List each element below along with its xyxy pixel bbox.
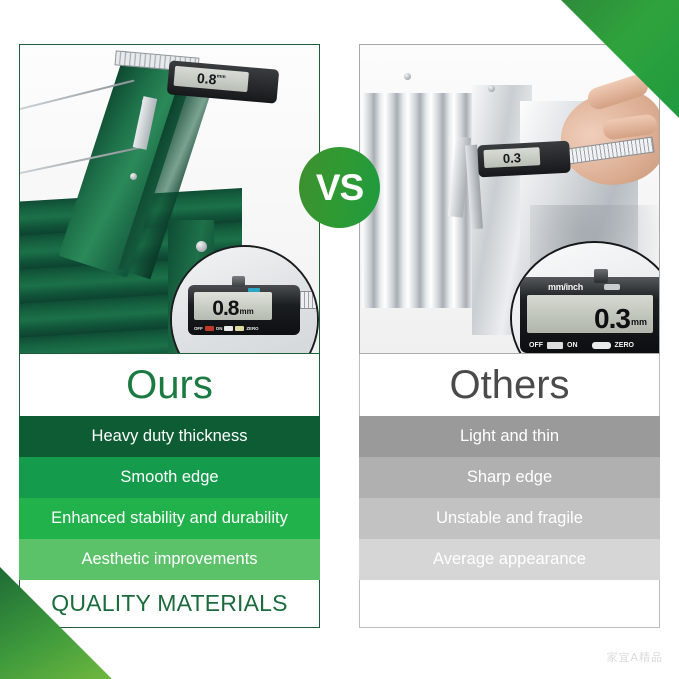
caliper-top-switch-others	[604, 284, 620, 290]
feature-row-others-1: Light and thin	[359, 416, 660, 457]
caliper-on-label-ours: ON	[216, 326, 223, 331]
caliper-display-small-others: 0.3	[483, 147, 540, 168]
magnified-caliper-value-ours: 0.8	[212, 298, 238, 319]
feature-row-others-2: Sharp edge	[359, 457, 660, 498]
magnified-display-ours: 0.8 mm	[194, 292, 272, 320]
watermark: 家宜A精品	[606, 649, 663, 665]
caliper-value-small-ours: 0.8	[196, 70, 217, 88]
feature-row-ours-1: Heavy duty thickness	[19, 416, 320, 457]
silver-screw-upper	[488, 85, 495, 92]
feature-label-ours-4: Aesthetic improvements	[81, 550, 257, 569]
comparison-board: 0.8 mm 0.8 mm OFF	[0, 0, 679, 679]
heading-others: Others	[449, 365, 569, 405]
feature-label-others-4: Average appearance	[433, 550, 586, 569]
feature-list-others: Light and thin Sharp edge Unstable and f…	[359, 416, 660, 580]
feature-row-ours-4: Aesthetic improvements	[19, 539, 320, 580]
feature-row-ours-2: Smooth edge	[19, 457, 320, 498]
caliper-unit-small-ours: mm	[216, 69, 226, 80]
feature-list-ours: Heavy duty thickness Smooth edge Enhance…	[19, 416, 320, 580]
magnified-display-others: 0.3 mm	[527, 295, 653, 333]
caliper-thumb-knob-others	[594, 269, 608, 283]
magnified-caliper-others: mm/inch 0.3 mm OFF ON ZERO	[520, 277, 660, 353]
feature-label-others-3: Unstable and fragile	[436, 509, 583, 528]
footer-box-others	[359, 580, 660, 628]
caliper-on-label-others: ON	[567, 342, 578, 349]
footer-text-ours: QUALITY MATERIALS	[51, 590, 287, 617]
magnifier-circle-others: mm/inch 0.3 mm OFF ON ZERO	[510, 241, 660, 354]
heading-row-others: Others	[359, 354, 660, 416]
feature-label-ours-3: Enhanced stability and durability	[51, 509, 288, 528]
caliper-off-label-others: OFF	[529, 342, 543, 349]
heading-ours: Ours	[126, 365, 213, 405]
screw-lower	[130, 173, 137, 180]
magnified-caliper-unit-ours: mm	[239, 308, 253, 319]
caliper-on-switch-ours	[224, 326, 233, 331]
feature-row-others-4: Average appearance	[359, 539, 660, 580]
magnified-caliper-ours: 0.8 mm OFF ON ZERO	[188, 285, 300, 335]
feature-row-ours-3: Enhanced stability and durability	[19, 498, 320, 539]
feature-label-ours-2: Smooth edge	[120, 468, 218, 487]
caliper-button-row-ours: OFF ON ZERO	[194, 326, 259, 331]
feature-label-ours-1: Heavy duty thickness	[92, 427, 248, 446]
photo-panel-others: 0.3 mm/inch 0.3 mm OFF ON	[359, 44, 660, 354]
caliper-value-small-others: 0.3	[502, 150, 521, 166]
photo-panel-ours: 0.8 mm 0.8 mm OFF	[19, 44, 320, 354]
magnifier-circle-ours: 0.8 mm OFF ON ZERO	[170, 245, 319, 354]
caliper-zero-label-others: ZERO	[615, 342, 634, 349]
silver-screw-top	[404, 73, 411, 80]
feature-label-others-2: Sharp edge	[467, 468, 552, 487]
magnified-caliper-unit-others: mm	[631, 317, 647, 331]
caliper-device-others: 0.3	[477, 141, 571, 178]
magnified-caliper-value-others: 0.3	[594, 308, 630, 331]
feature-row-others-3: Unstable and fragile	[359, 498, 660, 539]
vs-badge-label: VS	[316, 169, 363, 206]
caliper-off-switch-ours	[205, 326, 214, 331]
column-others: 0.3 mm/inch 0.3 mm OFF ON	[359, 44, 660, 637]
caliper-off-label-ours: OFF	[194, 326, 203, 331]
caliper-zero-switch-ours	[235, 326, 244, 331]
caliper-button-row-others: OFF ON ZERO	[529, 342, 634, 349]
caliper-mode-label-others: mm/inch	[548, 282, 583, 292]
caliper-zero-switch-others	[592, 342, 611, 349]
feature-label-others-1: Light and thin	[460, 427, 559, 446]
caliper-thumb-knob-ours	[232, 276, 245, 287]
vs-badge: VS	[299, 147, 380, 228]
footer-box-ours: QUALITY MATERIALS	[19, 580, 320, 628]
caliper-zero-label-ours: ZERO	[246, 326, 258, 331]
column-ours: 0.8 mm 0.8 mm OFF	[19, 44, 320, 637]
caliper-power-switch-others	[547, 342, 563, 349]
heading-row-ours: Ours	[19, 354, 320, 416]
